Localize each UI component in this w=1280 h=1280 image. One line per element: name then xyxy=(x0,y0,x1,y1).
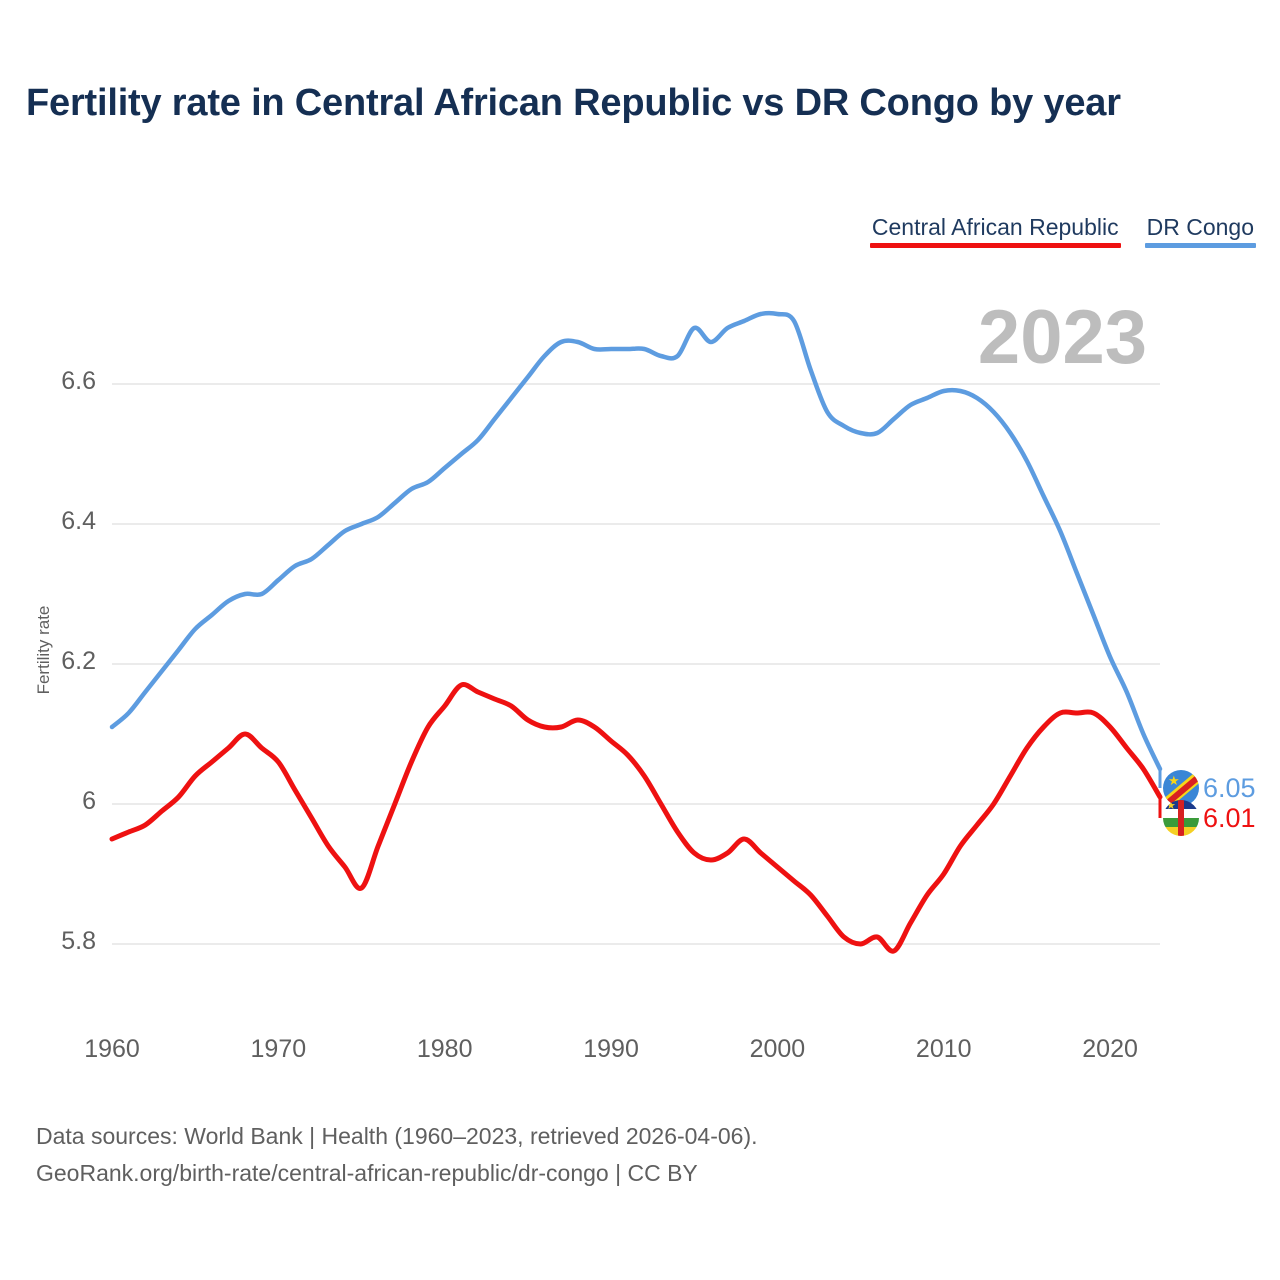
y-tick-label: 6.6 xyxy=(16,367,96,396)
y-tick-label: 6.2 xyxy=(16,647,96,676)
x-tick-label: 2000 xyxy=(722,1035,832,1064)
chart-plot-area xyxy=(0,0,1280,1280)
x-tick-label: 2020 xyxy=(1055,1035,1165,1064)
series-line-central-african-republic xyxy=(112,685,1160,952)
x-tick-label: 1980 xyxy=(390,1035,500,1064)
footer-attribution: GeoRank.org/birth-rate/central-african-r… xyxy=(36,1155,758,1192)
endpoint-value-dr-congo: 6.05 xyxy=(1203,775,1256,802)
endpoint-central-african-republic[interactable]: ★ 6.01 xyxy=(1163,800,1256,836)
y-axis-title: Fertility rate xyxy=(34,580,54,720)
footer-data-sources: Data sources: World Bank | Health (1960–… xyxy=(36,1118,758,1155)
x-tick-label: 1970 xyxy=(223,1035,333,1064)
x-tick-label: 2010 xyxy=(889,1035,999,1064)
y-tick-label: 6.4 xyxy=(16,507,96,536)
series-line-dr-congo xyxy=(112,313,1160,769)
y-tick-label: 6 xyxy=(16,787,96,816)
gridlines xyxy=(112,384,1160,944)
chart-page: Fertility rate in Central African Republ… xyxy=(0,0,1280,1280)
y-tick-label: 5.8 xyxy=(16,927,96,956)
series-lines xyxy=(112,313,1160,951)
footer: Data sources: World Bank | Health (1960–… xyxy=(36,1118,758,1193)
flag-cf-icon: ★ xyxy=(1163,800,1199,836)
x-tick-label: 1960 xyxy=(57,1035,167,1064)
x-tick-label: 1990 xyxy=(556,1035,666,1064)
endpoint-value-central-african-republic: 6.01 xyxy=(1203,805,1256,832)
